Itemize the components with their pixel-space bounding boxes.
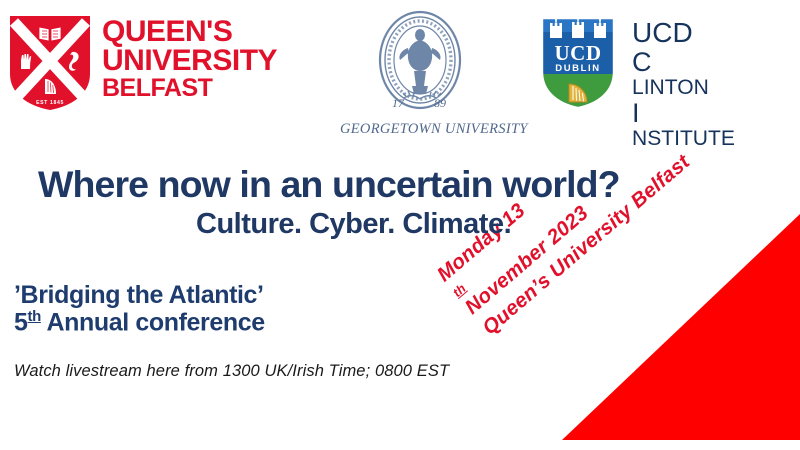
- conference-edition: 5th Annual conference: [14, 308, 265, 337]
- qub-wordmark: QUEEN'S UNIVERSITY BELFAST: [102, 18, 277, 100]
- conference-edition-number: 5: [14, 308, 28, 336]
- conference-edition-rest: Annual conference: [41, 308, 265, 336]
- qub-crest-motto: EST 1845: [36, 100, 64, 106]
- logo-queens-university-belfast: EST 1845 QUEEN'S UNIVERSITY BELFAST: [8, 14, 277, 112]
- logo-georgetown-university: 17 89 GEORGETOWN UNIVERSITY: [340, 8, 500, 138]
- page-title: Where now in an uncertain world?: [38, 163, 620, 206]
- livestream-note: Watch livestream here from 1300 UK/Irish…: [14, 362, 449, 381]
- conference-edition-ordinal: th: [28, 308, 41, 325]
- georgetown-seal-year-right: 89: [434, 96, 446, 110]
- qub-wordmark-line2: UNIVERSITY: [102, 47, 277, 76]
- page-subtitle: Culture. Cyber. Climate.: [196, 208, 511, 241]
- ucd-shield-icon: UCD DUBLIN: [540, 16, 616, 110]
- qub-wordmark-line1: QUEEN'S: [102, 18, 277, 47]
- georgetown-seal-year-left: 17: [392, 96, 405, 110]
- qub-wordmark-line3: BELFAST: [102, 76, 277, 100]
- qub-crest-icon: EST 1845: [8, 14, 92, 112]
- georgetown-seal-icon: 17 89: [360, 8, 480, 120]
- conference-series-name: ’Bridging the Atlantic’: [14, 281, 264, 310]
- conference-poster: EST 1845 QUEEN'S UNIVERSITY BELFAST: [0, 0, 800, 450]
- georgetown-wordmark: GEORGETOWN UNIVERSITY: [340, 121, 500, 138]
- ucd-shield-text-dublin: DUBLIN: [555, 63, 601, 74]
- ucd-shield-text-ucd: UCD: [555, 41, 602, 65]
